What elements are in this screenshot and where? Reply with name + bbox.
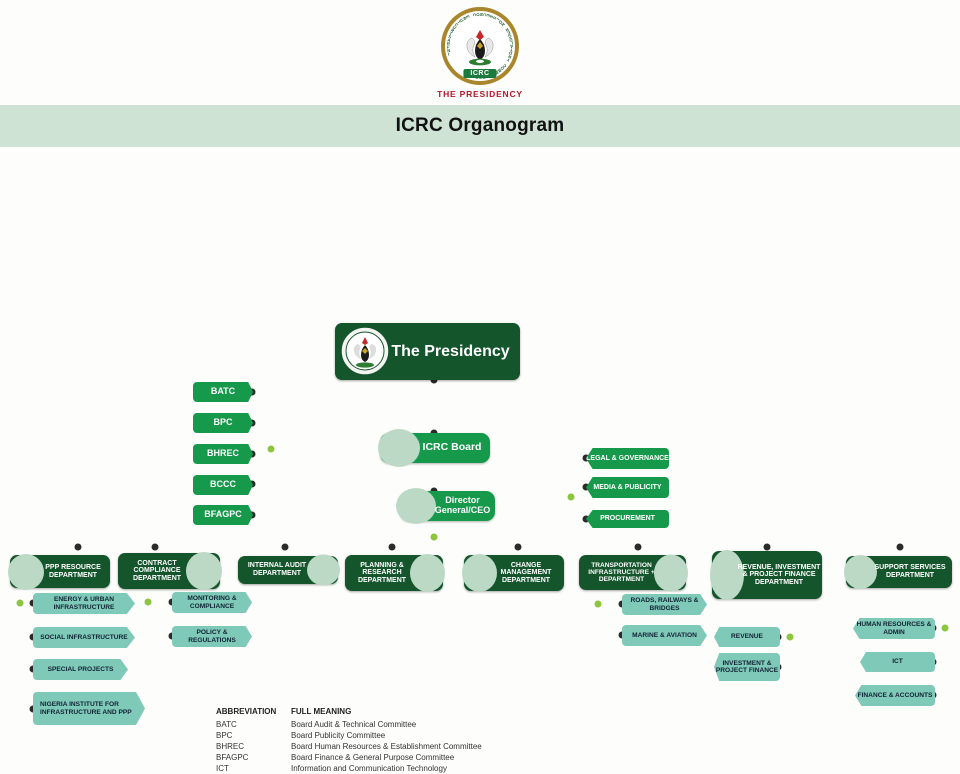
legend-abbreviation: BATC [216, 719, 291, 730]
connector-dot [152, 544, 159, 551]
legend-col-meaning: FULL MEANING [291, 707, 482, 719]
legend-meaning: Information and Communication Technology [291, 763, 482, 774]
connector-dot [897, 544, 904, 551]
legend-meaning: Board Finance & General Purpose Committe… [291, 752, 482, 763]
connector-dot [389, 544, 396, 551]
legend-abbreviation: BHREC [216, 741, 291, 752]
title-band: ICRC Organogram [0, 105, 960, 147]
federal-republic-seal-icon [339, 325, 391, 377]
node-label: LEGAL & GOVERNANCE [586, 455, 669, 463]
node-label: Director General/CEO [430, 496, 495, 515]
node-label: CHANGE MANAGEMENT DEPARTMENT [488, 562, 564, 585]
legend-row: BFAGPCBoard Finance & General Purpose Co… [216, 752, 482, 763]
node-revenue[interactable]: REVENUE [714, 627, 780, 647]
connector-dot-accent [268, 446, 275, 453]
node-planning-research-department[interactable]: PLANNING & RESEARCH DEPARTMENT [345, 555, 443, 591]
legend-meaning: Board Audit & Technical Committee [291, 719, 482, 730]
node-label: BFAGPC [204, 510, 242, 520]
node-label: FINANCE & ACCOUNTS [858, 692, 933, 699]
node-bfagpc[interactable]: BFAGPC [193, 505, 253, 525]
node-ppp-resource-department[interactable]: PPP RESOURCE DEPARTMENT [10, 555, 110, 588]
node-marine-aviation[interactable]: MARINE & AVIATION [622, 625, 707, 646]
node-roads-railways-bridges[interactable]: ROADS, RAILWAYS & BRIDGES [622, 594, 707, 615]
node-label: BHREC [207, 449, 239, 459]
legend-col-abbreviation: ABBREVIATION [216, 707, 291, 719]
legend-abbreviation: BPC [216, 730, 291, 741]
seal-badge: ICRC [463, 69, 496, 78]
connector-dot-accent [145, 599, 152, 606]
connector-dot-accent [431, 534, 438, 541]
node-nigeria-institute-infrastructure-ppp[interactable]: NIGERIA INSTITUTE FOR INFRASTRUCTURE AND… [33, 692, 145, 725]
node-label: HUMAN RESOURCES & ADMIN [853, 621, 935, 636]
node-label: ROADS, RAILWAYS & BRIDGES [622, 597, 707, 612]
connector-dot [515, 544, 522, 551]
node-internal-audit-department[interactable]: INTERNAL AUDIT DEPARTMENT [238, 556, 338, 584]
node-batc[interactable]: BATC [193, 382, 253, 402]
page-title: ICRC Organogram [396, 115, 565, 137]
connector-dot [282, 544, 289, 551]
seal-subtitle: THE PRESIDENCY [437, 89, 523, 99]
node-label: BCCC [210, 480, 236, 490]
node-label: REVENUE, INVESTMENT & PROJECT FINANCE DE… [736, 564, 822, 587]
node-label: BATC [211, 387, 235, 397]
connector-lines [0, 147, 300, 297]
node-label: ICT [892, 658, 903, 665]
node-label: SOCIAL INFRASTRUCTURE [40, 634, 127, 641]
legend-meaning: Board Publicity Committee [291, 730, 482, 741]
node-director-general[interactable]: Director General/CEO [400, 491, 495, 521]
node-policy-regulations[interactable]: POLICY & REGULATIONS [172, 626, 252, 647]
connector-dot [635, 544, 642, 551]
logo-area: INFRASTRUCTURE CONCESSION REGULATORY COM… [0, 0, 960, 105]
node-label: INVESTMENT & PROJECT FINANCE [714, 660, 780, 675]
node-accent-circle [378, 429, 420, 467]
node-label: PPP RESOURCE DEPARTMENT [36, 564, 110, 579]
legend-row: BATCBoard Audit & Technical Committee [216, 719, 482, 730]
node-label: TRANSPORTATION INFRASTRUCTURE + DEPARTME… [579, 562, 664, 583]
icrc-seal-logo: INFRASTRUCTURE CONCESSION REGULATORY COM… [437, 7, 523, 99]
node-support-services-department[interactable]: SUPPORT SERVICES DEPARTMENT [846, 556, 952, 588]
node-label: BPC [213, 418, 232, 428]
node-label: ENERGY & URBAN INFRASTRUCTURE [33, 596, 135, 611]
node-finance-accounts[interactable]: FINANCE & ACCOUNTS [855, 685, 935, 706]
legend-row: BHRECBoard Human Resources & Establishme… [216, 741, 482, 752]
node-label: ICRC Board [423, 442, 482, 453]
connector-dot [75, 544, 82, 551]
connector-dot-accent [942, 625, 949, 632]
organogram-canvas: The Presidency ICRC Board Director Gener… [0, 147, 960, 660]
node-monitoring-compliance[interactable]: MONITORING & COMPLIANCE [172, 592, 252, 613]
legend-row: BPCBoard Publicity Committee [216, 730, 482, 741]
node-bhrec[interactable]: BHREC [193, 444, 253, 464]
connector-dot [764, 544, 771, 551]
node-revenue-investment-project-finance-department[interactable]: REVENUE, INVESTMENT & PROJECT FINANCE DE… [712, 551, 822, 599]
seal-icon: INFRASTRUCTURE CONCESSION REGULATORY COM… [441, 7, 519, 85]
node-energy-urban-infrastructure[interactable]: ENERGY & URBAN INFRASTRUCTURE [33, 593, 135, 614]
node-label: MARINE & AVIATION [632, 632, 697, 639]
node-label: CONTRACT COMPLIANCE DEPARTMENT [118, 560, 196, 583]
node-special-projects[interactable]: SPECIAL PROJECTS [33, 659, 128, 680]
node-media-publicity[interactable]: MEDIA & PUBLICITY [586, 477, 669, 498]
node-icrc-board[interactable]: ICRC Board [380, 433, 490, 463]
abbreviation-legend: ABBREVIATION FULL MEANING BATCBoard Audi… [216, 707, 482, 774]
legend-abbreviation: BFAGPC [216, 752, 291, 763]
connector-dot-accent [595, 601, 602, 608]
connector-dot-accent [568, 494, 575, 501]
node-label: MEDIA & PUBLICITY [593, 484, 661, 492]
legend-abbreviation: ICT [216, 763, 291, 774]
node-contract-compliance-department[interactable]: CONTRACT COMPLIANCE DEPARTMENT [118, 553, 220, 589]
node-label: PROCUREMENT [600, 515, 655, 523]
node-ict[interactable]: ICT [860, 652, 935, 672]
connector-dot-accent [787, 634, 794, 641]
node-label: MONITORING & COMPLIANCE [172, 595, 252, 610]
node-the-presidency[interactable]: The Presidency [335, 323, 520, 380]
node-label: SUPPORT SERVICES DEPARTMENT [868, 564, 952, 579]
node-label: NIGERIA INSTITUTE FOR INFRASTRUCTURE AND… [40, 701, 145, 716]
legend-row: ICTInformation and Communication Technol… [216, 763, 482, 774]
legend-header-row: ABBREVIATION FULL MEANING [216, 707, 482, 719]
connector-dot-accent [17, 600, 24, 607]
node-label: PLANNING & RESEARCH DEPARTMENT [345, 562, 419, 585]
node-label: INTERNAL AUDIT DEPARTMENT [238, 562, 316, 577]
node-label: REVENUE [731, 633, 763, 640]
node-bccc[interactable]: BCCC [193, 475, 253, 495]
node-change-management-department[interactable]: CHANGE MANAGEMENT DEPARTMENT [464, 555, 564, 591]
node-social-infrastructure[interactable]: SOCIAL INFRASTRUCTURE [33, 627, 135, 648]
node-investment-project-finance[interactable]: INVESTMENT & PROJECT FINANCE [714, 653, 780, 681]
legend-table: ABBREVIATION FULL MEANING BATCBoard Audi… [216, 707, 482, 774]
node-legal-governance[interactable]: LEGAL & GOVERNANCE [586, 448, 669, 469]
node-label: POLICY & REGULATIONS [172, 629, 252, 644]
legend-meaning: Board Human Resources & Establishment Co… [291, 741, 482, 752]
node-human-resources-admin[interactable]: HUMAN RESOURCES & ADMIN [853, 618, 935, 639]
node-procurement[interactable]: PROCUREMENT [586, 510, 669, 528]
node-label: SPECIAL PROJECTS [48, 666, 114, 673]
node-transportation-infrastructure-department[interactable]: TRANSPORTATION INFRASTRUCTURE + DEPARTME… [579, 555, 686, 590]
node-label: The Presidency [391, 343, 509, 360]
node-bpc[interactable]: BPC [193, 413, 253, 433]
